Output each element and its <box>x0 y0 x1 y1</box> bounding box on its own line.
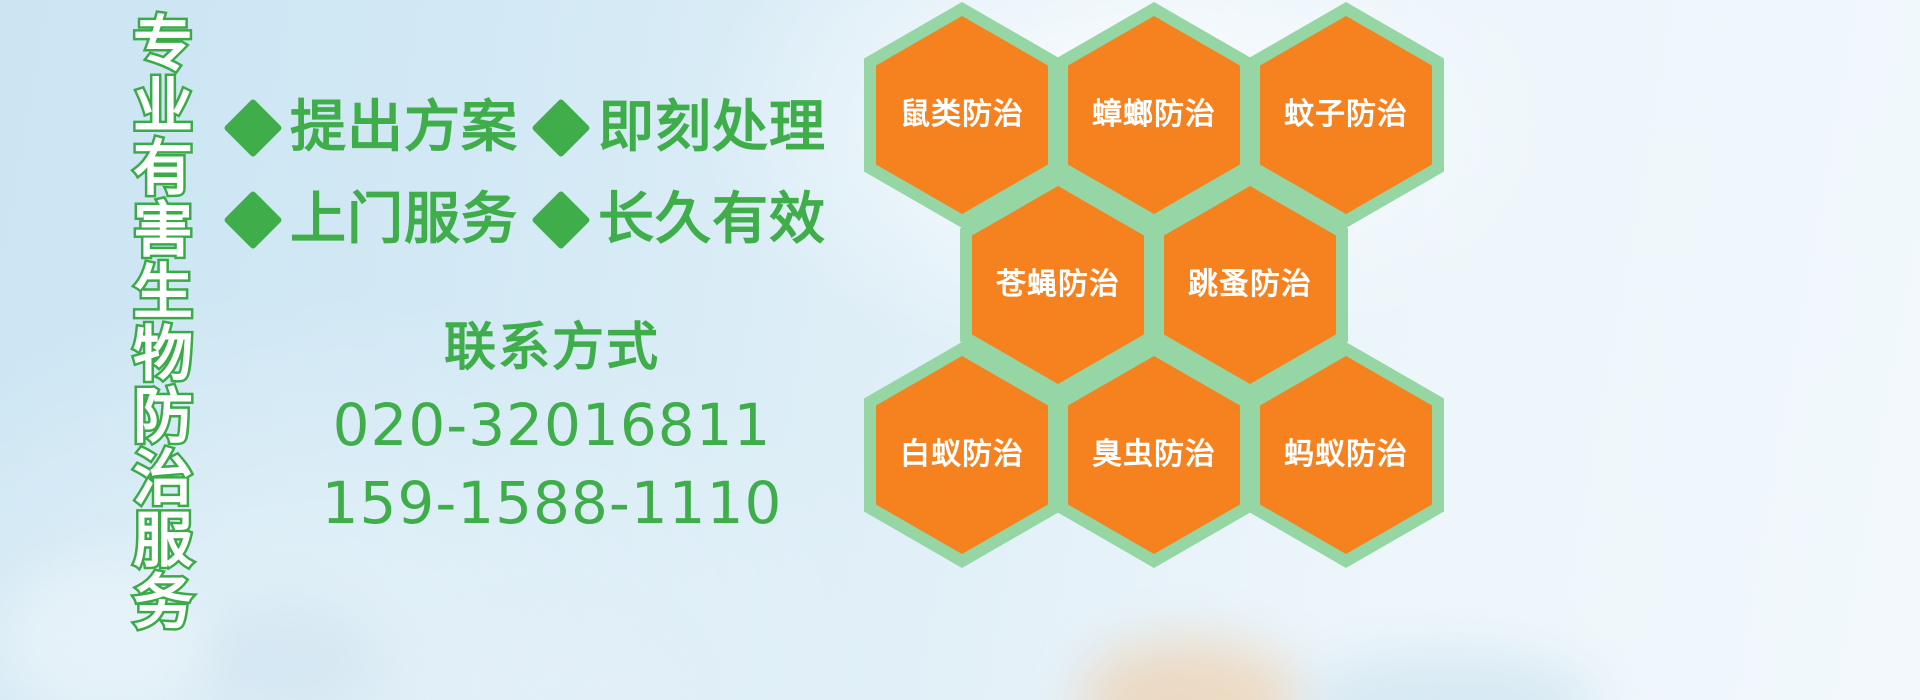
diamond-icon <box>223 190 282 249</box>
feature-item: 即刻处理 <box>540 100 826 156</box>
contact-title: 联系方式 <box>232 310 872 386</box>
diamond-icon <box>531 98 590 157</box>
background-bokeh-blob <box>200 600 380 700</box>
feature-label: 长久有效 <box>598 192 826 248</box>
service-label: 蚊子防治 <box>1284 100 1408 130</box>
vertical-title-char: 服 <box>133 510 193 572</box>
vertical-title-char: 生 <box>133 262 193 324</box>
feature-item: 上门服务 <box>232 192 518 248</box>
service-label: 蟑螂防治 <box>1092 100 1216 130</box>
service-hex-termite[interactable]: 白蚁防治 <box>864 342 1060 568</box>
contact-phone-landline[interactable]: 020-32016811 <box>232 386 872 464</box>
diamond-icon <box>531 190 590 249</box>
feature-list: 提出方案 即刻处理 上门服务 长久有效 <box>232 82 872 266</box>
feature-label: 上门服务 <box>290 192 518 248</box>
feature-item: 长久有效 <box>540 192 826 248</box>
service-honeycomb: 鼠类防治 蟑螂防治 蚊子防治 苍蝇防治 跳蚤防治 <box>856 0 1456 700</box>
vertical-title-char: 防 <box>133 386 193 448</box>
diamond-icon <box>223 98 282 157</box>
feature-row: 提出方案 即刻处理 <box>232 82 872 174</box>
contact-phone-mobile[interactable]: 159-1588-1110 <box>232 464 872 542</box>
service-label: 跳蚤防治 <box>1188 270 1312 300</box>
feature-label: 提出方案 <box>290 100 518 156</box>
vertical-title-char: 有 <box>133 138 193 200</box>
service-label: 鼠类防治 <box>900 100 1024 130</box>
vertical-title-char: 业 <box>133 76 193 138</box>
promo-banner: 专 业 有 害 生 物 防 治 服 务 提出方案 即刻处理 上门服务 <box>0 0 1920 700</box>
service-label: 臭虫防治 <box>1092 440 1216 470</box>
vertical-title-char: 物 <box>133 324 193 386</box>
service-label: 蚂蚁防治 <box>1284 440 1408 470</box>
vertical-title: 专 业 有 害 生 物 防 治 服 务 <box>103 14 223 562</box>
contact-block: 联系方式 020-32016811 159-1588-1110 <box>232 310 872 542</box>
service-label: 苍蝇防治 <box>996 270 1120 300</box>
service-hex-bedbug[interactable]: 臭虫防治 <box>1056 342 1252 568</box>
feature-row: 上门服务 长久有效 <box>232 174 872 266</box>
vertical-title-char: 务 <box>133 572 193 634</box>
service-label: 白蚁防治 <box>900 440 1024 470</box>
vertical-title-char: 治 <box>133 448 193 510</box>
feature-item: 提出方案 <box>232 100 518 156</box>
background-bokeh-blob <box>420 630 680 700</box>
service-hex-ant[interactable]: 蚂蚁防治 <box>1248 342 1444 568</box>
feature-label: 即刻处理 <box>598 100 826 156</box>
vertical-title-char: 专 <box>133 14 193 76</box>
vertical-title-char: 害 <box>133 200 193 262</box>
